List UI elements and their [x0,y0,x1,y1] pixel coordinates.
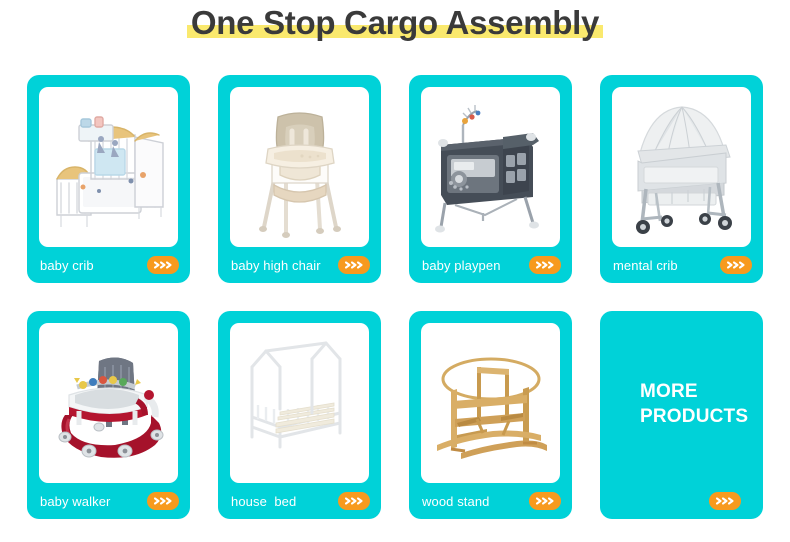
more-products-line2: PRODUCTS [640,404,748,429]
chevrons-right-icon[interactable] [147,256,179,274]
product-grid: baby crib [27,75,763,519]
card-footer [600,483,763,519]
card-label: house bed [231,494,338,509]
card-footer: wood stand [409,483,572,519]
more-products-line1: MORE [640,379,748,404]
baby-high-chair-photo [230,87,369,247]
card-footer: mental crib [600,247,763,283]
card-footer: baby walker [27,483,190,519]
card-footer: baby high chair [218,247,381,283]
wood-stand-photo [421,323,560,483]
card-footer: baby crib [27,247,190,283]
chevrons-right-icon[interactable] [709,492,741,510]
card-label: wood stand [422,494,529,509]
baby-crib-photo [39,87,178,247]
chevrons-right-icon[interactable] [338,256,370,274]
page-header: One Stop Cargo Assembly [0,0,790,58]
chevrons-right-icon[interactable] [529,256,561,274]
chevrons-right-icon[interactable] [720,256,752,274]
page-title: One Stop Cargo Assembly [191,0,599,46]
chevrons-right-icon[interactable] [529,492,561,510]
baby-walker-photo [39,323,178,483]
card-footer: house bed [218,483,381,519]
product-card-baby-walker[interactable]: baby walker [27,311,190,519]
card-label: mental crib [613,258,720,273]
card-label: baby high chair [231,258,338,273]
product-card-baby-crib[interactable]: baby crib [27,75,190,283]
chevrons-right-icon[interactable] [338,492,370,510]
product-card-baby-high-chair[interactable]: baby high chair [218,75,381,283]
product-card-wood-stand[interactable]: wood stand [409,311,572,519]
product-card-house-bed[interactable]: house bed [218,311,381,519]
mental-crib-photo [612,87,751,247]
more-products-text: MORE PRODUCTS [640,379,748,429]
card-label: baby crib [40,258,147,273]
chevrons-right-icon[interactable] [147,492,179,510]
baby-playpen-photo [421,87,560,247]
card-footer: baby playpen [409,247,572,283]
more-products-card[interactable]: MORE PRODUCTS [600,311,763,519]
card-label: baby playpen [422,258,529,273]
product-card-baby-playpen[interactable]: baby playpen [409,75,572,283]
house-bed-photo [230,323,369,483]
title-wrap: One Stop Cargo Assembly [0,0,790,58]
product-card-mental-crib[interactable]: mental crib [600,75,763,283]
card-label: baby walker [40,494,147,509]
